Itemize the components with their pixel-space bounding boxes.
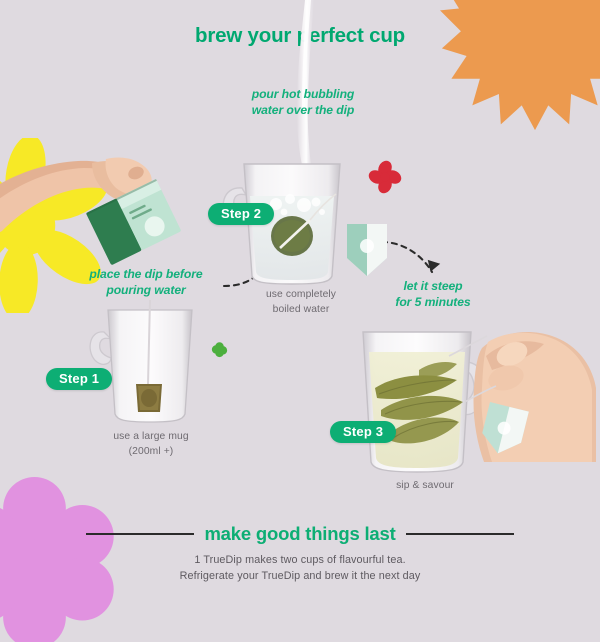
footer-rule-right — [406, 533, 514, 535]
note-pour-line2: water over the dip — [228, 102, 378, 118]
note-steep-line2: for 5 minutes — [372, 294, 494, 310]
note-place-dip: place the dip before pouring water — [70, 266, 222, 299]
caption-step1-line2: (200ml +) — [88, 445, 214, 460]
star-red-icon — [368, 160, 402, 194]
note-pour-line1: pour hot bubbling — [228, 86, 378, 102]
step1-mug-photo — [88, 300, 210, 424]
footer-line-1: 1 TrueDip makes two cups of flavourful t… — [0, 552, 600, 568]
infographic-canvas: brew your perfect cup — [0, 0, 600, 600]
caption-step3-line1: sip & savour — [370, 479, 480, 494]
caption-step2-line2: boiled water — [242, 303, 360, 318]
hand-holding-dip-packet-photo — [0, 145, 192, 273]
note-pour-water: pour hot bubbling water over the dip — [228, 86, 378, 119]
caption-step1-line1: use a large mug — [88, 430, 214, 445]
step-badge-3: Step 3 — [330, 421, 396, 443]
footer-title-row: make good things last — [0, 523, 600, 545]
caption-step-2: use completely boiled water — [242, 288, 360, 318]
clover-green-icon — [211, 341, 228, 358]
sun-orange-icon — [440, 0, 600, 132]
caption-step2-line1: use completely — [242, 288, 360, 303]
note-place-line2: pouring water — [70, 282, 222, 298]
footer-line-2: Refrigerate your TrueDip and brew it the… — [0, 568, 600, 584]
caption-step-3: sip & savour — [370, 479, 480, 494]
step-badge-1: Step 1 — [46, 368, 112, 390]
water-stream-photo — [280, 0, 330, 165]
step-badge-2: Step 2 — [208, 203, 274, 225]
note-place-line1: place the dip before — [70, 266, 222, 282]
hand-holding-string-photo — [466, 322, 598, 462]
footer-rule-left — [86, 533, 194, 535]
footer-title: make good things last — [204, 523, 395, 545]
caption-step-1: use a large mug (200ml +) — [88, 430, 214, 460]
footer: make good things last 1 TrueDip makes tw… — [0, 523, 600, 584]
note-steep-line1: let it steep — [372, 278, 494, 294]
note-let-it-steep: let it steep for 5 minutes — [372, 278, 494, 311]
dip-tag-photo — [344, 222, 390, 278]
